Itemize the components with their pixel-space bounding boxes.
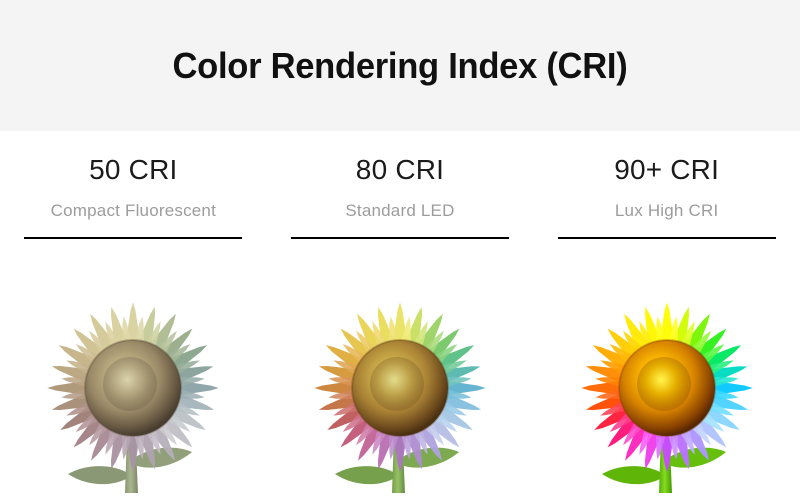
page-title: Color Rendering Index (CRI) [173,48,628,84]
rainbow-sunflower-icon [291,253,509,493]
cri-source-label: Standard LED [345,202,454,219]
rainbow-sunflower-icon [558,253,776,493]
page-header: Color Rendering Index (CRI) [0,0,800,131]
cri-value: 80 CRI [356,156,444,184]
cri-value: 50 CRI [89,156,177,184]
cri-value: 90+ CRI [614,156,719,184]
cri-column-90-plus[interactable]: 90+ CRI Lux High CRI [533,131,800,500]
cri-comparison-page: Color Rendering Index (CRI) 50 CRI Compa… [0,0,800,500]
cri-column-80[interactable]: 80 CRI Standard LED [267,131,534,500]
column-divider [291,237,509,239]
cri-source-label: Lux High CRI [615,202,719,219]
column-divider [24,237,242,239]
cri-comparison-columns: 50 CRI Compact Fluorescent [0,131,800,500]
column-divider [558,237,776,239]
sunflower-image-90-plus-cri [558,253,776,493]
cri-column-50[interactable]: 50 CRI Compact Fluorescent [0,131,267,500]
rainbow-sunflower-icon [24,253,242,493]
sunflower-image-50-cri [24,253,242,493]
cri-source-label: Compact Fluorescent [51,202,216,219]
sunflower-image-80-cri [291,253,509,493]
